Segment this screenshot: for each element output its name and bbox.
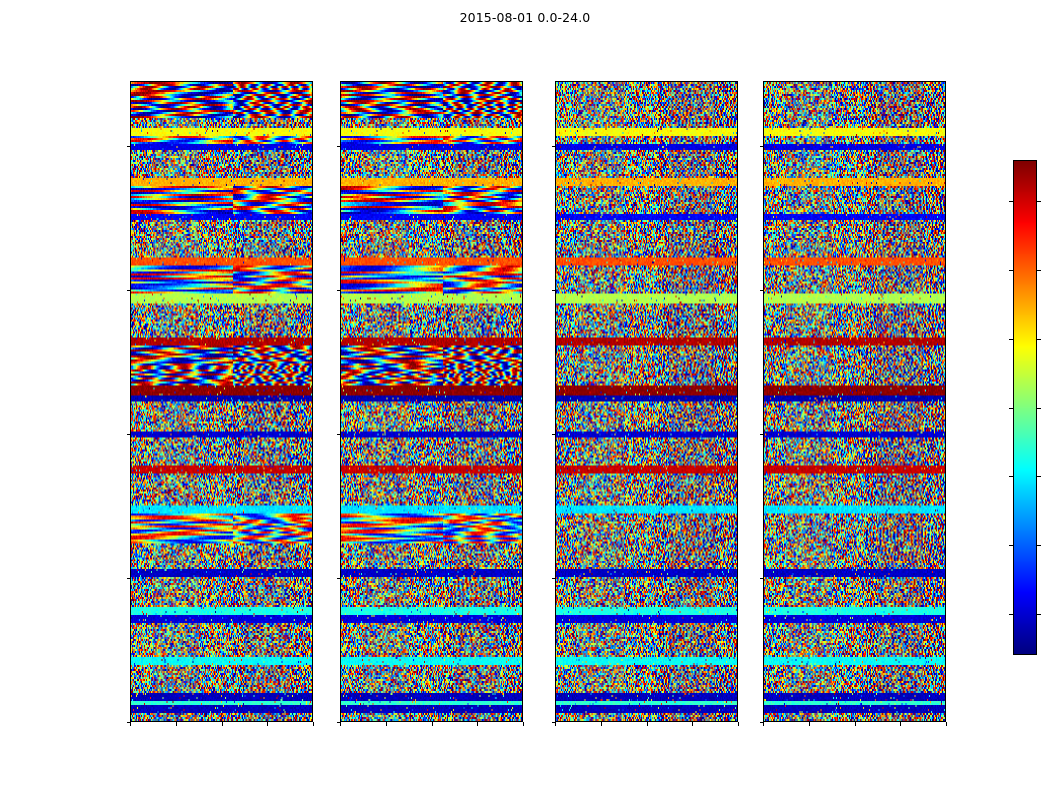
y-tick-mark [127, 578, 131, 579]
x-tick-mark [900, 722, 901, 726]
x-tick-mark [267, 722, 268, 726]
colorbar-tick-mark [1037, 476, 1041, 477]
y-tick-mark [760, 290, 764, 291]
colorbar-tick-mark [1037, 270, 1041, 271]
colorbar-gradient [1014, 161, 1036, 654]
heatmap-panel-yx[interactable] [763, 81, 946, 722]
y-tick-mark [552, 146, 556, 147]
y-tick-mark [552, 578, 556, 579]
heatmap-image-xx [131, 82, 312, 721]
x-tick-mark [946, 722, 947, 726]
x-tick-mark [809, 722, 810, 726]
colorbar-tick-mark [1009, 339, 1013, 340]
y-tick-mark [760, 146, 764, 147]
x-tick-mark [130, 722, 131, 726]
x-tick-mark [386, 722, 387, 726]
x-tick-mark [763, 722, 764, 726]
x-tick-mark [176, 722, 177, 726]
y-tick-mark [552, 290, 556, 291]
x-tick-mark [855, 722, 856, 726]
heatmap-image-yy [341, 82, 522, 721]
colorbar-tick-mark [1009, 545, 1013, 546]
figure-canvas: 2015-08-01 0.0-24.0 [0, 0, 1050, 800]
heatmap-panel-yy[interactable] [340, 81, 523, 722]
x-tick-mark [738, 722, 739, 726]
y-tick-mark [337, 434, 341, 435]
x-tick-mark [340, 722, 341, 726]
x-tick-mark [692, 722, 693, 726]
colorbar-tick-mark [1009, 270, 1013, 271]
y-tick-mark [552, 434, 556, 435]
colorbar[interactable] [1013, 160, 1037, 655]
heatmap-image-xy [556, 82, 737, 721]
y-tick-mark [127, 290, 131, 291]
x-tick-mark [432, 722, 433, 726]
colorbar-tick-mark [1009, 614, 1013, 615]
y-tick-mark [760, 434, 764, 435]
colorbar-tick-mark [1009, 476, 1013, 477]
x-tick-mark [523, 722, 524, 726]
heatmap-panel-xy[interactable] [555, 81, 738, 722]
x-tick-mark [647, 722, 648, 726]
figure-suptitle: 2015-08-01 0.0-24.0 [0, 10, 1050, 25]
colorbar-tick-mark [1037, 545, 1041, 546]
x-tick-mark [477, 722, 478, 726]
y-tick-mark [760, 578, 764, 579]
y-tick-mark [337, 146, 341, 147]
colorbar-tick-mark [1037, 201, 1041, 202]
colorbar-tick-mark [1037, 339, 1041, 340]
y-tick-mark [127, 146, 131, 147]
colorbar-tick-mark [1009, 201, 1013, 202]
x-tick-mark [222, 722, 223, 726]
heatmap-image-yx [764, 82, 945, 721]
y-tick-mark [337, 290, 341, 291]
y-tick-mark [337, 578, 341, 579]
y-tick-mark [127, 434, 131, 435]
colorbar-tick-mark [1037, 614, 1041, 615]
x-tick-mark [313, 722, 314, 726]
x-tick-mark [555, 722, 556, 726]
heatmap-panel-xx[interactable] [130, 81, 313, 722]
x-tick-mark [601, 722, 602, 726]
colorbar-tick-mark [1009, 408, 1013, 409]
colorbar-tick-mark [1037, 408, 1041, 409]
